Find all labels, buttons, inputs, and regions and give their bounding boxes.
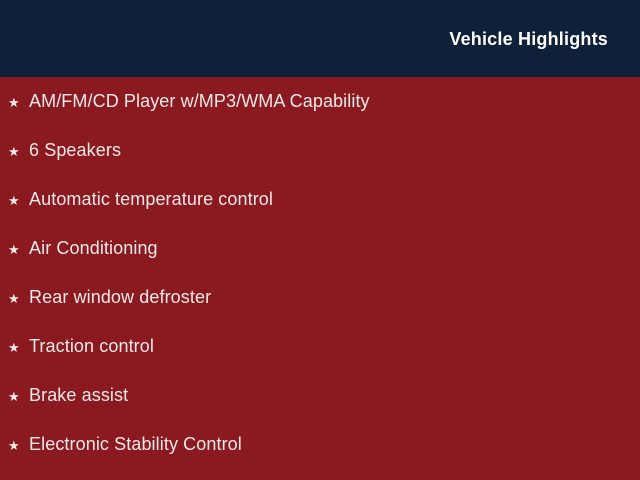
list-item-label: AM/FM/CD Player w/MP3/WMA Capability: [29, 91, 640, 111]
list-item: ★ Automatic temperature control: [0, 189, 640, 238]
list-item-label: Traction control: [29, 336, 640, 356]
slide-header: Vehicle Highlights: [0, 0, 640, 77]
list-item-label: 6 Speakers: [29, 140, 640, 160]
vehicle-highlights-slide: Vehicle Highlights ★ AM/FM/CD Player w/M…: [0, 0, 640, 480]
star-icon: ★: [8, 191, 29, 211]
list-item-label: Rear window defroster: [29, 287, 640, 307]
star-icon: ★: [8, 387, 29, 407]
star-icon: ★: [8, 289, 29, 309]
vehicle-highlights-list: ★ AM/FM/CD Player w/MP3/WMA Capability ★…: [0, 91, 640, 480]
star-icon: ★: [8, 93, 29, 113]
list-item: ★ Traction control: [0, 336, 640, 385]
list-item: ★ Electronic Stability Control: [0, 434, 640, 480]
list-item-label: Electronic Stability Control: [29, 434, 640, 454]
list-item-label: Air Conditioning: [29, 238, 640, 258]
star-icon: ★: [8, 338, 29, 358]
list-item: ★ Air Conditioning: [0, 238, 640, 287]
list-item-label: Automatic temperature control: [29, 189, 640, 209]
star-icon: ★: [8, 240, 29, 260]
list-item: ★ 6 Speakers: [0, 140, 640, 189]
list-item: ★ AM/FM/CD Player w/MP3/WMA Capability: [0, 91, 640, 140]
highlights-panel: ★ AM/FM/CD Player w/MP3/WMA Capability ★…: [0, 77, 640, 480]
page-title: Vehicle Highlights: [449, 30, 608, 48]
list-item-label: Brake assist: [29, 385, 640, 405]
list-item: ★ Brake assist: [0, 385, 640, 434]
list-item: ★ Rear window defroster: [0, 287, 640, 336]
star-icon: ★: [8, 142, 29, 162]
star-icon: ★: [8, 436, 29, 456]
